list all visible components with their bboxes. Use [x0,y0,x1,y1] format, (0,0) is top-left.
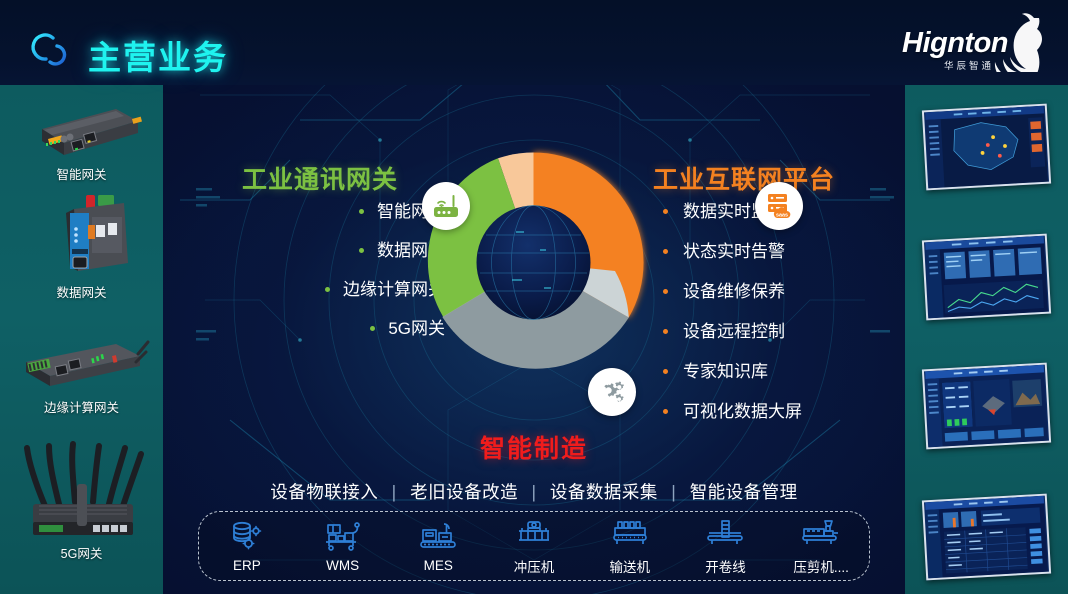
separator: | [531,482,536,502]
list-item-label: 设备维修保养 [683,283,785,300]
center-bottom-title: 智能制造 [163,429,905,465]
bullet-dot [663,289,668,294]
node-platform[interactable]: saas [755,182,803,230]
node-manufacturing[interactable] [588,368,636,416]
header-bar: 主营业务 Hignton 华辰智通 [0,0,1068,85]
list-item[interactable]: 智能网关 [183,203,445,220]
strip-item-label: ERP [199,558,295,573]
smart-gateway-device-image [20,99,144,161]
product-label: 智能网关 [0,164,163,183]
server-saas-icon: saas [764,192,794,220]
business-donut-chart [416,145,651,380]
sub-item: 智能设备管理 [690,482,798,502]
shearing-machine-icon [773,517,869,551]
industry-systems-strip: ERP [198,511,870,581]
gears-icon [598,379,626,405]
strip-item-label: MES [390,558,486,573]
bullet-dot [663,409,668,414]
list-item[interactable]: 设备远程控制 [663,323,913,340]
product-label: 边缘计算网关 [0,397,163,416]
strip-item-uncoiling-line[interactable]: 开卷线 [678,517,774,576]
brand-logo: Hignton 华辰智通 [902,16,1052,74]
strip-item-label: WMS [295,558,391,573]
strip-item-label: 开卷线 [678,556,774,576]
strip-item-conveyor[interactable]: 输送机 [582,517,678,576]
left-product-rail: 智能网关 数据网关 [0,85,163,594]
right-dashboard-rail [905,85,1068,594]
list-item-label: 专家知识库 [683,363,768,380]
uncoiling-line-icon [678,517,774,551]
interlocking-circles-icon [26,28,82,76]
database-gears-icon [199,519,295,553]
data-gateway-device-image [20,187,144,279]
sub-item: 设备物联接入 [270,482,378,502]
sub-items-line: 设备物联接入 | 老旧设备改造 | 设备数据采集 | 智能设备管理 [163,479,905,504]
left-column-title: 工业通讯网关 [195,160,445,196]
strip-item-label: 压剪机.... [773,556,869,576]
warehouse-cart-icon [295,519,391,553]
product-card-data-gateway[interactable]: 数据网关 [0,187,163,301]
conveyor-crane-icon [390,519,486,553]
bullet-dot [663,329,668,334]
data-table-chart-dashboard-screenshot[interactable] [922,234,1051,321]
page-title: 主营业务 [88,31,228,79]
list-item[interactable]: 边缘计算网关 [183,281,445,298]
list-item[interactable]: 可视化数据大屏 [663,403,913,420]
equipment-monitor-dashboard-screenshot[interactable] [922,363,1051,450]
bullet-dot [325,287,330,292]
strip-item-erp[interactable]: ERP [199,519,295,573]
list-item[interactable]: 状态实时告警 [663,243,913,260]
list-item[interactable]: 数据网关 [183,242,445,259]
bullet-dot [370,326,375,331]
analytics-table-dashboard-screenshot[interactable] [922,494,1051,581]
node-gateway[interactable] [422,182,470,230]
bullet-dot [359,209,364,214]
strip-item-label: 输送机 [582,556,678,576]
saas-label: saas [776,213,788,219]
product-label: 数据网关 [0,282,163,301]
product-card-smart-gateway[interactable]: 智能网关 [0,99,163,183]
strip-item-stamping-press[interactable]: 冲压机 [486,517,582,576]
separator: | [671,482,676,502]
edge-computing-gateway-device-image [12,330,152,394]
product-card-edge-gateway[interactable]: 边缘计算网关 [0,330,163,416]
product-label: 5G网关 [0,543,163,562]
brand-subtitle: 华辰智通 [944,58,994,72]
sub-item: 老旧设备改造 [410,482,518,502]
separator: | [392,482,397,502]
list-item-label: 状态实时告警 [683,243,785,260]
strip-item-label: 冲压机 [486,556,582,576]
slide-canvas: 主营业务 Hignton 华辰智通 [0,0,1068,594]
stamping-press-icon [486,517,582,551]
bullet-dot [359,248,364,253]
list-item[interactable]: 设备维修保养 [663,283,913,300]
strip-item-shearing-machine[interactable]: 压剪机.... [773,517,869,576]
sub-item: 设备数据采集 [550,482,658,502]
5g-gateway-router-image [7,420,157,540]
brand-name: Hignton [902,27,1008,60]
bullet-dot [663,369,668,374]
bullet-dot [663,209,668,214]
list-item[interactable]: 5G网关 [183,320,445,337]
left-column-list: 智能网关 数据网关 边缘计算网关 5G网关 [183,203,445,359]
list-item-label: 设备远程控制 [683,323,785,340]
right-column-list: 数据实时监控 状态实时告警 设备维修保养 设备远程控制 专家知识库 可视化数据大… [663,203,913,443]
list-item[interactable]: 专家知识库 [663,363,913,380]
strip-item-wms[interactable]: WMS [295,519,391,573]
router-wifi-icon [432,193,460,219]
map-dashboard-screenshot[interactable] [922,104,1051,191]
strip-item-mes[interactable]: MES [390,519,486,573]
bullet-dot [663,249,668,254]
conveyor-belt-icon [582,517,678,551]
list-item-label: 可视化数据大屏 [683,403,802,420]
main-content: 工业通讯网关 工业互联网平台 智能网关 数据网关 边缘计算网关 5G网关 数据实… [163,85,905,594]
product-card-5g-gateway[interactable]: 5G网关 [0,420,163,562]
